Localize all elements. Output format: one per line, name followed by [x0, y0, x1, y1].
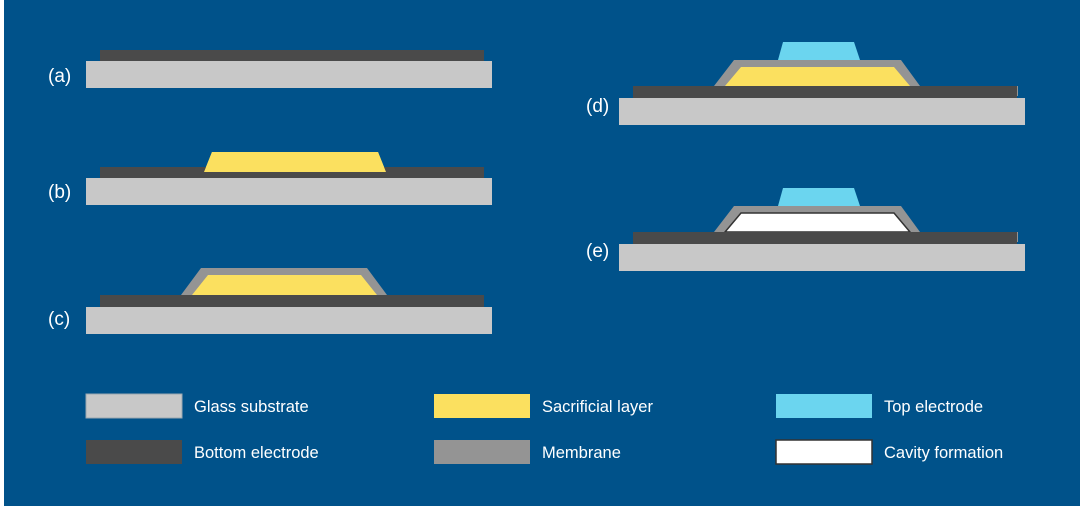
legend-column-1: Glass substrate Bottom electrode — [86, 394, 319, 464]
panel-a-label: (a) — [48, 66, 71, 87]
figure-container: (a) (b) (c) — [4, 0, 1080, 506]
panel-b-label: (b) — [48, 182, 71, 203]
legend: Glass substrate Bottom electrode Sacrifi… — [86, 394, 1003, 464]
legend-label-sacrificial-layer: Sacrificial layer — [542, 398, 653, 416]
panel-c-label: (c) — [48, 309, 70, 330]
legend-item-cavity-formation: Cavity formation — [776, 440, 1003, 464]
panel-c-bottom-electrode — [100, 295, 484, 307]
panel-a: (a) — [48, 50, 492, 88]
panel-d-sacrificial-layer — [725, 67, 910, 86]
panel-c-glass-substrate — [86, 307, 492, 334]
process-flow-diagram: (a) (b) (c) — [4, 0, 1080, 506]
legend-label-glass-substrate: Glass substrate — [194, 398, 309, 416]
panel-e-glass-substrate — [619, 244, 1025, 271]
panel-b-glass-substrate — [86, 178, 492, 205]
legend-column-2: Sacrificial layer Membrane — [434, 394, 653, 464]
panel-d-bottom-electrode — [633, 86, 1017, 98]
legend-label-membrane: Membrane — [542, 444, 621, 462]
panel-a-bottom-electrode — [100, 50, 484, 61]
legend-label-bottom-electrode: Bottom electrode — [194, 444, 319, 462]
cavity-formation-swatch — [776, 440, 872, 464]
legend-item-membrane: Membrane — [434, 440, 621, 464]
panel-b-sacrificial-layer-top — [204, 152, 386, 172]
panel-d-glass-substrate — [619, 98, 1025, 125]
panel-e-bottom-electrode — [633, 232, 1017, 244]
panel-d: (d) — [586, 42, 1025, 125]
legend-item-top-electrode: Top electrode — [776, 394, 983, 418]
bottom-electrode-swatch — [86, 440, 182, 464]
panel-e-label: (e) — [586, 241, 609, 262]
panel-e-top-electrode — [778, 188, 860, 206]
legend-item-glass-substrate: Glass substrate — [86, 394, 309, 418]
panel-b: (b) — [48, 152, 492, 205]
top-electrode-swatch — [776, 394, 872, 418]
panel-e-cavity — [725, 213, 910, 232]
membrane-swatch — [434, 440, 530, 464]
panel-c-sacrificial-layer — [192, 275, 377, 295]
glass-substrate-swatch — [86, 394, 182, 418]
legend-label-cavity-formation: Cavity formation — [884, 444, 1003, 462]
legend-item-bottom-electrode: Bottom electrode — [86, 440, 319, 464]
panel-d-label: (d) — [586, 96, 609, 117]
panel-d-top-electrode — [778, 42, 860, 60]
legend-label-top-electrode: Top electrode — [884, 398, 983, 416]
legend-column-3: Top electrode Cavity formation — [776, 394, 1003, 464]
legend-item-sacrificial-layer: Sacrificial layer — [434, 394, 653, 418]
panel-a-glass-substrate — [86, 61, 492, 88]
panel-e: (e) — [586, 188, 1025, 271]
panel-c: (c) — [48, 268, 492, 334]
sacrificial-layer-swatch — [434, 394, 530, 418]
